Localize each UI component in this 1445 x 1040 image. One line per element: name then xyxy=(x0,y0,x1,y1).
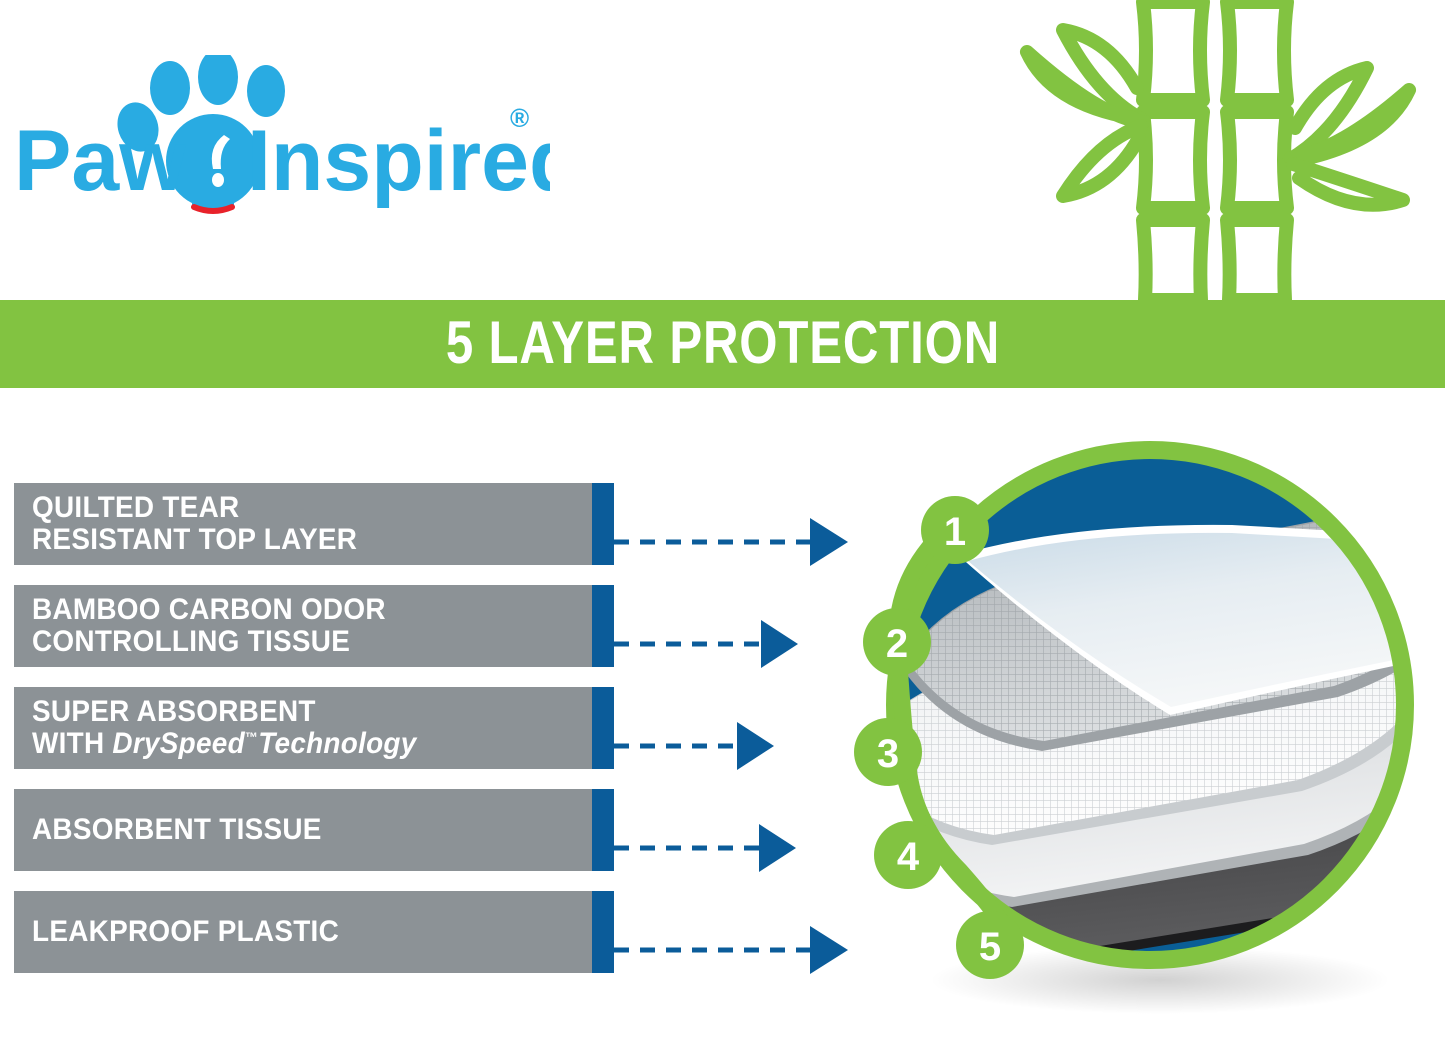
layer-label-cap-4 xyxy=(592,789,614,871)
layer-badge-4[interactable]: 4 xyxy=(874,821,942,889)
bulb-base-threads xyxy=(194,207,232,215)
connector-arrow-svg xyxy=(612,470,857,990)
layer-label-row-3[interactable]: SUPER ABSORBENT WITH DrySpeed™Technology xyxy=(14,687,614,769)
layer-label-row-5[interactable]: LEAKPROOF PLASTIC xyxy=(14,891,614,973)
layer-badge-3[interactable]: 3 xyxy=(854,718,922,786)
layer-badge-4-label: 4 xyxy=(897,835,920,879)
brand-logo-svg: Paw Inspired ® xyxy=(10,55,550,215)
layer-label-row-4[interactable]: ABSORBENT TISSUE xyxy=(14,789,614,871)
connector-arrow-2 xyxy=(614,620,798,668)
page-title: 5 LAYER PROTECTION xyxy=(445,313,999,376)
layer-label-row-1[interactable]: QUILTED TEAR RESISTANT TOP LAYER xyxy=(14,483,614,565)
layer-label-line-3b-suffix: Technology xyxy=(258,727,416,760)
layer-label-list: QUILTED TEAR RESISTANT TOP LAYER BAMBOO … xyxy=(14,483,614,983)
layer-label-body-2: BAMBOO CARBON ODOR CONTROLLING TISSUE xyxy=(14,585,592,667)
layer-badge-3-label: 3 xyxy=(877,732,899,776)
connector-arrow-1 xyxy=(614,518,848,566)
brand-logo: Paw Inspired ® xyxy=(10,55,550,215)
connector-arrow-5 xyxy=(614,926,848,974)
layer-label-line-3a: SUPER ABSORBENT xyxy=(32,696,553,728)
layer-label-body-1: QUILTED TEAR RESISTANT TOP LAYER xyxy=(14,483,592,565)
dryspeed-brand-name: DrySpeed xyxy=(112,727,244,760)
layer-label-body-3: SUPER ABSORBENT WITH DrySpeed™Technology xyxy=(14,687,592,769)
registered-trademark-icon: ® xyxy=(510,103,529,133)
connector-arrow-4 xyxy=(614,824,796,872)
layer-stack-illustration: 1 2 3 4 5 xyxy=(840,415,1445,1035)
layer-stack-svg: 1 2 3 4 5 xyxy=(840,415,1445,1035)
layer-badge-5-label: 5 xyxy=(979,925,1001,969)
layer-badge-1[interactable]: 1 xyxy=(921,496,989,564)
layer-badge-5[interactable]: 5 xyxy=(956,911,1024,979)
infographic-canvas: Paw Inspired ® xyxy=(0,0,1445,1035)
layer-label-cap-5 xyxy=(592,891,614,973)
layer-label-line-4a: ABSORBENT TISSUE xyxy=(32,814,553,846)
section-banner: 5 LAYER PROTECTION xyxy=(0,300,1445,388)
layer-badge-2-label: 2 xyxy=(886,622,908,666)
layer-label-cap-3 xyxy=(592,687,614,769)
layer-label-body-5: LEAKPROOF PLASTIC xyxy=(14,891,592,973)
layer-label-line-1a: QUILTED TEAR xyxy=(32,492,553,524)
layer-label-line-2b: CONTROLLING TISSUE xyxy=(32,626,553,658)
layer-label-cap-1 xyxy=(592,483,614,565)
layer-label-line-1b: RESISTANT TOP LAYER xyxy=(32,524,553,556)
layer-badge-2[interactable]: 2 xyxy=(863,608,931,676)
layer-label-cap-2 xyxy=(592,585,614,667)
bamboo-stalks-icon xyxy=(1005,0,1445,305)
layer-label-line-5a: LEAKPROOF PLASTIC xyxy=(32,916,553,948)
logo-word-inspired: Inspired xyxy=(247,113,550,209)
bamboo-decoration xyxy=(1005,0,1445,305)
connector-arrow-3 xyxy=(614,722,774,770)
layer-label-row-2[interactable]: BAMBOO CARBON ODOR CONTROLLING TISSUE xyxy=(14,585,614,667)
logo-word-paw: Paw xyxy=(14,113,187,209)
layer-label-body-4: ABSORBENT TISSUE xyxy=(14,789,592,871)
layer-badge-1-label: 1 xyxy=(944,510,966,554)
connector-arrow-group xyxy=(612,470,857,990)
layer-label-line-2a: BAMBOO CARBON ODOR xyxy=(32,594,553,626)
trademark-icon: ™ xyxy=(245,729,258,745)
layer-label-line-3b-prefix: WITH xyxy=(32,727,112,760)
layer-label-line-3b: WITH DrySpeed™Technology xyxy=(32,728,553,760)
